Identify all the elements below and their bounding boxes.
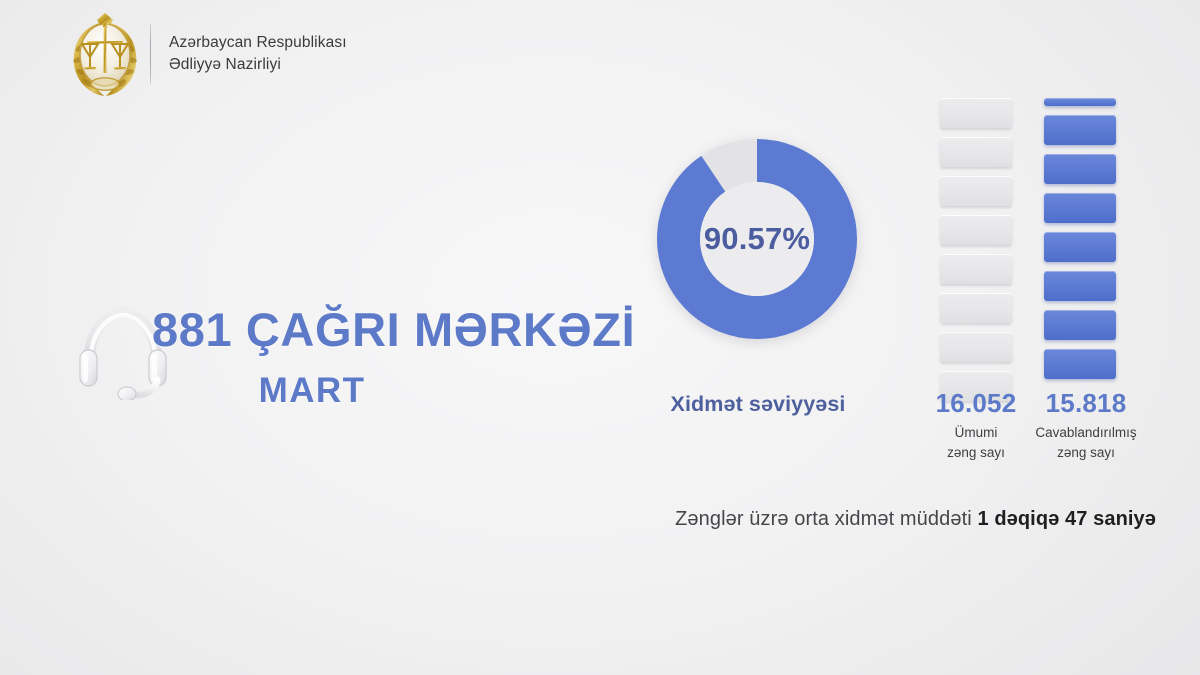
service-level-donut-chart: 90.57% [650, 132, 864, 346]
bar-segment [1044, 193, 1116, 223]
bar-segment [1044, 271, 1116, 301]
average-duration-value: 1 dəqiqə 47 saniyə [977, 508, 1156, 530]
month-label: MART [152, 371, 622, 411]
average-service-duration-note: Zənglər üzrə orta xidmət müddəti 1 dəqiq… [675, 508, 1156, 531]
org-name-line-2: Ədliyyə Nazirliyi [169, 54, 347, 76]
service-level-value: 90.57% [650, 132, 864, 346]
bar-segment [1044, 310, 1116, 340]
azerbaijan-ministry-of-justice-emblem [66, 10, 144, 98]
bar-segment [940, 98, 1012, 128]
total-calls-bar-stack [940, 98, 1012, 410]
bar-segment [940, 176, 1012, 206]
bar-segment-partial [1044, 98, 1116, 106]
answered-calls-bar-stack [1044, 98, 1116, 388]
bar-segment [940, 332, 1012, 362]
header-divider [150, 24, 151, 84]
average-duration-label: Zənglər üzrə orta xidmət müddəti [675, 508, 977, 530]
service-level-caption: Xidmət səviyyəsi [620, 392, 896, 417]
page-title: 881 ÇAĞRI MƏRKƏZİ [152, 306, 622, 355]
answered-calls-stat: 15.818 Cavablandırılmış zəng sayı [1012, 388, 1160, 462]
header: Azərbaycan Respublikası Ədliyyə Nazirliy… [66, 8, 347, 100]
org-name-line-1: Azərbaycan Respublikası [169, 32, 347, 54]
bar-segment [1044, 349, 1116, 379]
answered-calls-caption: Cavablandırılmış zəng sayı [1012, 423, 1160, 462]
answered-calls-caption-line-2: zəng sayı [1012, 443, 1160, 463]
organization-name: Azərbaycan Respublikası Ədliyyə Nazirliy… [169, 32, 347, 76]
title-block: 881 ÇAĞRI MƏRKƏZİ MART [152, 306, 622, 411]
bar-segment [1044, 115, 1116, 145]
bar-segment [940, 215, 1012, 245]
bar-segment [940, 254, 1012, 284]
bar-segment [1044, 232, 1116, 262]
bar-segment [1044, 154, 1116, 184]
bar-segment [940, 293, 1012, 323]
answered-calls-caption-line-1: Cavablandırılmış [1012, 423, 1160, 443]
answered-calls-value: 15.818 [1012, 388, 1160, 419]
bar-segment [940, 137, 1012, 167]
